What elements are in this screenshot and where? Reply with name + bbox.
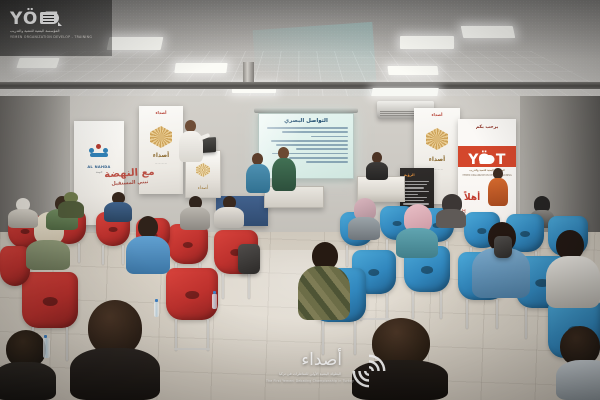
moderator-body [366, 162, 388, 180]
attendee-body [104, 202, 132, 222]
speech-bubble-icon [480, 155, 495, 164]
attendee-body [58, 201, 84, 218]
attendee-body [126, 236, 170, 274]
al-nahda-logo-icon [89, 144, 109, 157]
speech-bubble-icon [40, 12, 59, 24]
ceiling-rail [0, 82, 600, 89]
attendee-blue-shirt [126, 216, 170, 274]
watermark-arabic-tagline: البطولة اليمنية الأولى للمناظرات في تركي… [264, 372, 356, 376]
logo-latin-subtitle: YEMEN ORGANIZATION DEVELOP - TRAINING [10, 35, 92, 39]
attendee-body [488, 178, 508, 206]
attendee-body [214, 207, 244, 228]
attendee-camo [298, 242, 350, 320]
panelist-body [272, 158, 296, 191]
attendee-olive-hat [58, 192, 84, 218]
ceiling-lamp [174, 63, 227, 73]
ceiling-lamp [461, 26, 516, 38]
banner-yodt-welcome-arabic: يرحب بكم [458, 125, 516, 130]
bottom-watermark: أصداء البطولة اليمنية الأولى للمناظرات ف… [258, 348, 386, 392]
panelist-two [272, 147, 296, 191]
top-left-logo-overlay: YÖ T المؤسسة اليمنية للتنمية والتدريب YE… [0, 0, 112, 56]
podium-arabic-label: أصداء [186, 186, 220, 191]
attendee-navy-left [104, 192, 132, 222]
moderator [366, 152, 388, 180]
attendee-body [348, 217, 380, 240]
panelist-one [246, 153, 270, 193]
water-bottle [212, 294, 217, 309]
echo-waves-icon [350, 352, 388, 390]
attendee-mauve-hijab [348, 198, 380, 240]
conference-photo: AL NAHDA النهضة أصداء أصداء — — — — أصدا… [0, 0, 600, 400]
attendee-white-left-mid [214, 196, 244, 228]
chair-red [168, 224, 208, 264]
attendee-dark-hijab-rear [436, 194, 466, 228]
ceiling-lamp [387, 66, 438, 75]
ceiling-lamp [16, 58, 59, 68]
attendee-foreground-left [70, 300, 160, 400]
attendee-pink-hijab [396, 204, 438, 258]
water-bottle [43, 338, 50, 358]
banner-asdaa-right-name: أصداء [414, 156, 460, 163]
logo-arabic-subtitle: المؤسسة اليمنية للتنمية والتدريب [10, 29, 60, 33]
attendee-body [70, 348, 160, 400]
watermark-english-tagline: The First Yemeni Debating Championship i… [264, 379, 356, 383]
asdaa-diamond-icon [150, 126, 172, 148]
attendee-body [8, 209, 38, 228]
attendee-white-cap [8, 198, 38, 228]
attendee-white-right [546, 230, 600, 308]
ceiling-lamp [107, 37, 164, 50]
asdaa-diamond-icon [426, 128, 448, 150]
attendee-foreground-far-right [556, 326, 600, 400]
ceiling-lamp [400, 36, 454, 49]
banner-asdaa-left-name: أصداء [139, 152, 183, 159]
water-bottle [154, 302, 159, 317]
backpack [238, 244, 260, 274]
attendee-body [0, 362, 56, 400]
asdaa-diamond-icon [196, 163, 210, 177]
attendee-body [298, 266, 350, 320]
strip-light [371, 88, 438, 96]
attendee-body [26, 240, 70, 270]
attendee-body [396, 228, 438, 258]
attendee-grey-left [180, 196, 210, 230]
attendee-body [180, 207, 210, 230]
attendee-body [546, 256, 600, 308]
backpack [494, 236, 512, 258]
attendee-body [556, 360, 600, 400]
attendee-head [138, 216, 158, 238]
standing-presenter [178, 120, 204, 162]
attendee-standing-orange [488, 168, 508, 206]
panelist-body [246, 164, 270, 193]
watermark-arabic-name: أصداء [301, 350, 342, 370]
attendee-body [436, 209, 466, 228]
attendee-blue-right [472, 222, 530, 298]
chair-red [166, 268, 218, 320]
banner-asdaa-left-sub: — — — — [139, 162, 183, 165]
